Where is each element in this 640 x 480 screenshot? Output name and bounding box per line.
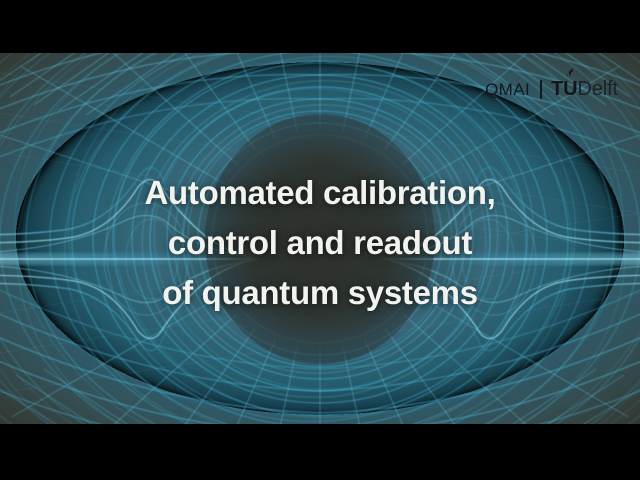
tudelft-flame-icon xyxy=(564,68,577,81)
delft-letters: Delft xyxy=(577,79,618,99)
qmai-wordmark: QMAI xyxy=(485,81,530,98)
tudelft-wordmark: TU Delft xyxy=(551,79,618,99)
title-line-2: control and readout xyxy=(0,218,640,268)
tu-letters: TU xyxy=(551,79,577,99)
video-frame-screenshot: QMAI TU Delft Automated calibration, con… xyxy=(0,0,640,480)
title-line-3: of quantum systems xyxy=(0,268,640,318)
title-line-1: Automated calibration, xyxy=(0,168,640,218)
logo-separator xyxy=(540,80,542,99)
slide-title: Automated calibration, control and reado… xyxy=(0,168,640,318)
logo-lockup: QMAI TU Delft xyxy=(485,76,618,102)
letterbox-bar-bottom xyxy=(0,424,640,480)
letterbox-bar-top xyxy=(0,0,640,53)
